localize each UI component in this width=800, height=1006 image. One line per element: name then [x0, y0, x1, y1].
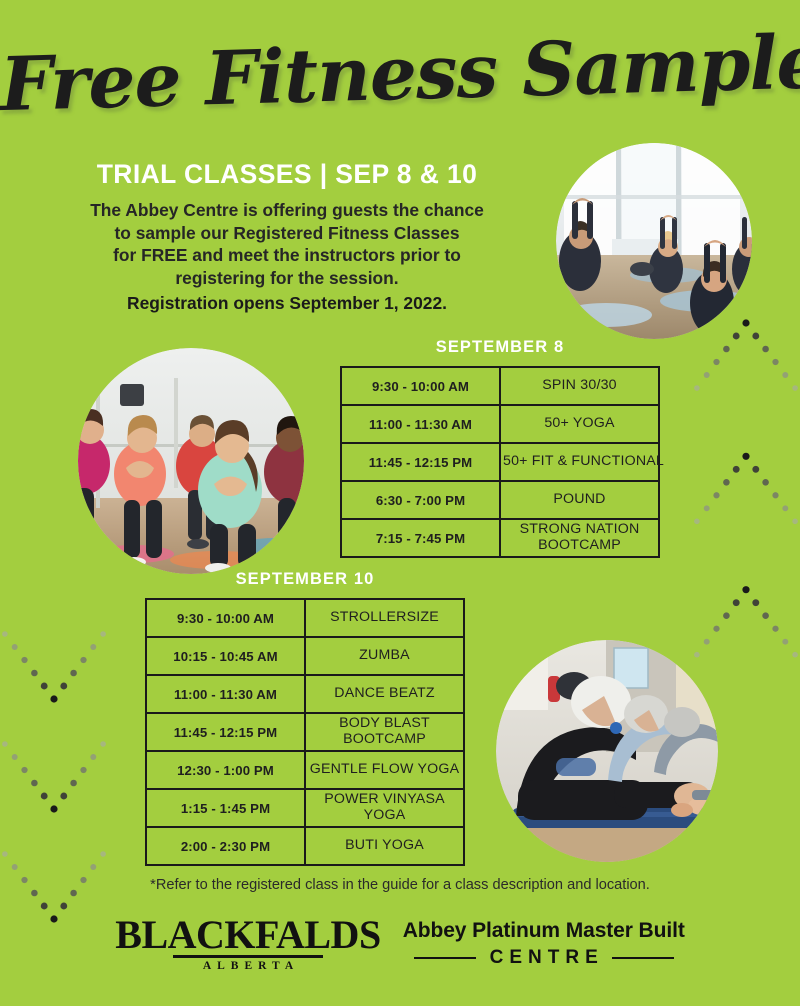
class-name-cell: SPIN 30/30 — [500, 367, 659, 405]
table-row: 11:45 - 12:15 PMBODY BLASTBOOTCAMP — [146, 713, 464, 751]
class-time-cell: 1:15 - 1:45 PM — [146, 789, 305, 827]
poster-root: Free Fitness Sampler TRIAL CLASSES | SEP… — [0, 0, 800, 1006]
intro-body-line-4: registering for the session. — [62, 267, 512, 290]
schedule-september-8: SEPTEMBER 8 9:30 - 10:00 AMSPIN 30/3011:… — [340, 338, 660, 558]
class-name-cell: 50+ YOGA — [500, 405, 659, 443]
schedule-heading-sep8: SEPTEMBER 8 — [340, 338, 660, 357]
logo-blackfalds-word: BLACKFALDS — [115, 916, 380, 954]
class-name-cell: STROLLERSIZE — [305, 599, 464, 637]
table-row: 2:00 - 2:30 PMBUTI YOGA — [146, 827, 464, 865]
photo-group-fitness — [78, 348, 304, 574]
class-time-cell: 11:00 - 11:30 AM — [146, 675, 305, 713]
logo-abbey-dash-left — [414, 957, 476, 960]
table-row: 9:30 - 10:00 AMSTROLLERSIZE — [146, 599, 464, 637]
intro-heading: TRIAL CLASSES | SEP 8 & 10 — [62, 160, 512, 189]
class-time-cell: 7:15 - 7:45 PM — [341, 519, 500, 557]
table-row: 11:45 - 12:15 PM50+ FIT & FUNCTIONAL — [341, 443, 659, 481]
class-time-cell: 2:00 - 2:30 PM — [146, 827, 305, 865]
footer-logos: BLACKFALDS ALBERTA Abbey Platinum Master… — [0, 913, 800, 972]
table-row: 9:30 - 10:00 AMSPIN 30/30 — [341, 367, 659, 405]
table-row: 1:15 - 1:45 PMPOWER VINYASAYOGA — [146, 789, 464, 827]
class-time-cell: 11:00 - 11:30 AM — [341, 405, 500, 443]
class-time-cell: 11:45 - 12:15 PM — [146, 713, 305, 751]
page-title: Free Fitness Sampler — [0, 25, 800, 125]
logo-abbey-line2: CENTRE — [484, 947, 604, 969]
table-row: 6:30 - 7:00 PMPOUND — [341, 481, 659, 519]
logo-abbey-line1: Abbey Platinum Master Built — [403, 919, 685, 943]
class-time-cell: 10:15 - 10:45 AM — [146, 637, 305, 675]
class-time-cell: 9:30 - 10:00 AM — [146, 599, 305, 637]
logo-blackfalds-sub: ALBERTA — [115, 960, 380, 972]
schedule-table-sep8: 9:30 - 10:00 AMSPIN 30/3011:00 - 11:30 A… — [340, 366, 660, 558]
table-row: 10:15 - 10:45 AMZUMBA — [146, 637, 464, 675]
table-row: 11:00 - 11:30 AMDANCE BEATZ — [146, 675, 464, 713]
intro-body: The Abbey Centre is offering guests the … — [62, 199, 512, 290]
class-name-cell: POUND — [500, 481, 659, 519]
class-time-cell: 11:45 - 12:15 PM — [341, 443, 500, 481]
class-name-cell: BODY BLASTBOOTCAMP — [305, 713, 464, 751]
class-time-cell: 9:30 - 10:00 AM — [341, 367, 500, 405]
class-name-cell: STRONG NATIONBOOTCAMP — [500, 519, 659, 557]
schedule-heading-sep10: SEPTEMBER 10 — [145, 570, 465, 589]
logo-abbey-line2-wrap: CENTRE — [403, 947, 685, 969]
footnote: *Refer to the registered class in the gu… — [0, 877, 800, 893]
registration-note: Registration opens September 1, 2022. — [62, 292, 512, 315]
logo-abbey-centre: Abbey Platinum Master Built CENTRE — [403, 913, 685, 969]
chevron-pattern-right — [692, 315, 800, 715]
class-name-cell: 50+ FIT & FUNCTIONAL — [500, 443, 659, 481]
photo-seniors-stretching — [496, 640, 718, 862]
table-row: 12:30 - 1:00 PMGENTLE FLOW YOGA — [146, 751, 464, 789]
schedule-table-sep10: 9:30 - 10:00 AMSTROLLERSIZE10:15 - 10:45… — [145, 598, 465, 866]
schedule-september-10: SEPTEMBER 10 9:30 - 10:00 AMSTROLLERSIZE… — [145, 570, 465, 866]
intro-block: TRIAL CLASSES | SEP 8 & 10 The Abbey Cen… — [62, 160, 512, 314]
intro-body-line-3: for FREE and meet the instructors prior … — [62, 244, 512, 267]
photo-yoga-class — [556, 143, 752, 339]
logo-blackfalds: BLACKFALDS ALBERTA — [115, 913, 380, 972]
class-name-cell: BUTI YOGA — [305, 827, 464, 865]
intro-body-line-2: to sample our Registered Fitness Classes — [62, 222, 512, 245]
class-time-cell: 6:30 - 7:00 PM — [341, 481, 500, 519]
class-name-cell: GENTLE FLOW YOGA — [305, 751, 464, 789]
class-name-cell: ZUMBA — [305, 637, 464, 675]
logo-abbey-dash-right — [612, 957, 674, 960]
class-name-cell: POWER VINYASAYOGA — [305, 789, 464, 827]
table-row: 11:00 - 11:30 AM50+ YOGA — [341, 405, 659, 443]
class-time-cell: 12:30 - 1:00 PM — [146, 751, 305, 789]
class-name-cell: DANCE BEATZ — [305, 675, 464, 713]
intro-body-line-1: The Abbey Centre is offering guests the … — [62, 199, 512, 222]
table-row: 7:15 - 7:45 PMSTRONG NATIONBOOTCAMP — [341, 519, 659, 557]
